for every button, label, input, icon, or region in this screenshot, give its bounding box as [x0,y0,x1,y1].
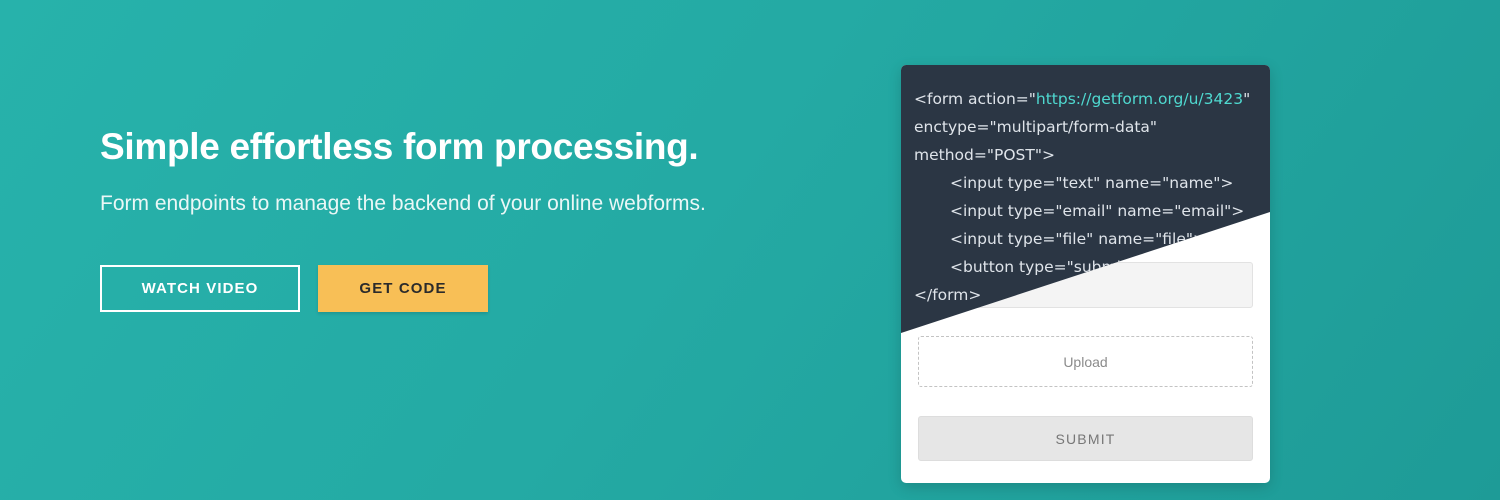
watch-video-button[interactable]: WATCH VIDEO [100,265,300,312]
code-line-4: <input type="text" name="name"> [914,169,1250,197]
code-line-1-open: <form action=" [914,90,1036,108]
code-line-2: enctype="multipart/form-data" [914,118,1157,136]
code-line-1-close: " [1243,90,1250,108]
cta-button-row: WATCH VIDEO GET CODE [100,265,760,312]
upload-dropzone[interactable]: Upload [918,336,1253,387]
submit-button-label: SUBMIT [1055,431,1115,447]
submit-button[interactable]: SUBMIT [918,416,1253,461]
code-line-8: </form> [914,286,981,304]
hero-banner: Simple effortless form processing. Form … [0,0,1500,500]
hero-subheading: Form endpoints to manage the backend of … [100,189,740,219]
hero-copy-column: Simple effortless form processing. Form … [100,126,760,312]
upload-dropzone-label: Upload [1063,354,1107,370]
get-code-button[interactable]: GET CODE [318,265,488,312]
code-line-3: method="POST"> [914,146,1055,164]
code-line-5: <input type="email" name="email"> [914,197,1250,225]
form-preview-card: Upload SUBMIT <form action="https://getf… [901,65,1270,483]
form-action-url: https://getform.org/u/3423 [1036,90,1243,108]
page-title: Simple effortless form processing. [100,126,760,169]
